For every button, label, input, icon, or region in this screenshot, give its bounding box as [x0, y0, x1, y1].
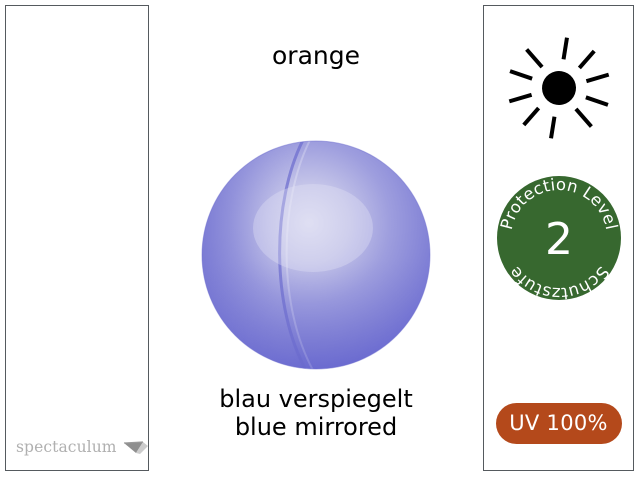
sun-icon [503, 32, 615, 144]
uv-protection-badge: UV 100% [496, 403, 622, 444]
protection-level-value: 2 [545, 214, 573, 265]
right-info-panel: Protection Level Schutzstufe 2 UV 100% [483, 5, 634, 471]
brand-name: spectaculum [16, 440, 117, 456]
lens-description: blau verspiegelt blue mirrored [152, 385, 480, 442]
spectacles-swoosh-icon [123, 440, 149, 456]
protection-level-badge: Protection Level Schutzstufe 2 [495, 174, 623, 302]
center-stage: orange [152, 0, 480, 480]
uv-protection-label: UV 100% [509, 413, 608, 434]
lens-description-en: blue mirrored [152, 413, 480, 441]
frame-color-label: orange [152, 42, 480, 70]
lens-sphere-preview[interactable] [201, 140, 431, 370]
lens-description-de: blau verspiegelt [152, 385, 480, 413]
left-preview-canvas [6, 6, 148, 426]
brand-bar: spectaculum [6, 426, 148, 470]
left-preview-panel[interactable]: spectaculum [5, 5, 149, 471]
